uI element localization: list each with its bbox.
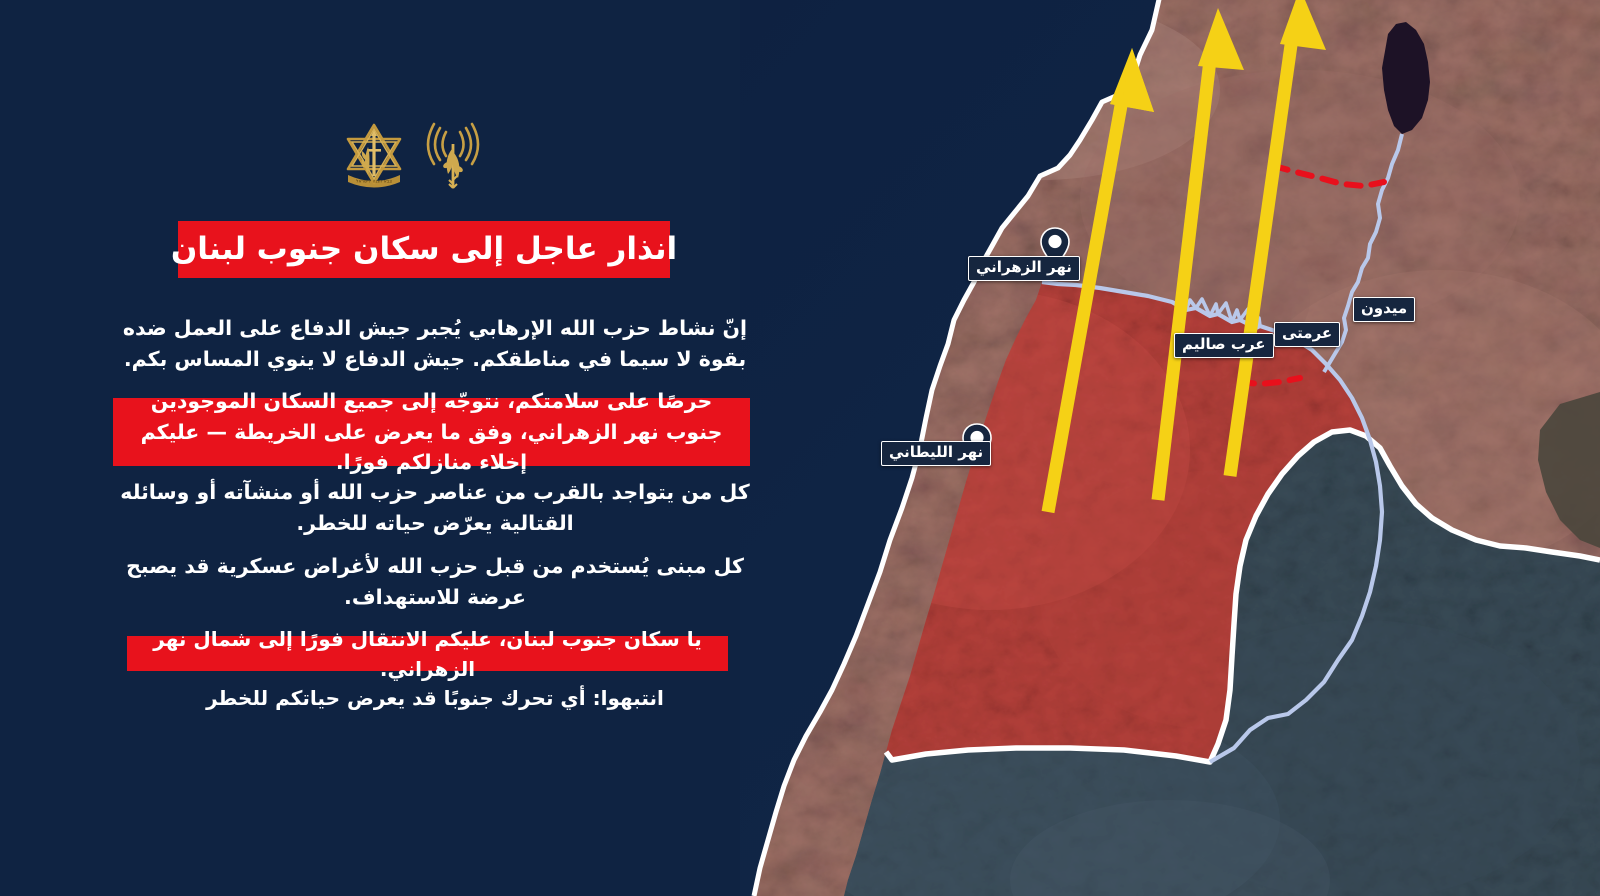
idf-insignia-icon: צבא הגנה לישראל (340, 119, 408, 191)
message-panel: צבא הגנה לישראל (0, 0, 760, 896)
headline-text: انذار عاجل إلى سكان جنوب لبنان (171, 234, 677, 265)
warning-graphic: نهر الزهراني نهر الليطاني عرب صاليم عرمت… (0, 0, 1600, 896)
paragraph-proximity-warning: كل من يتواجد بالقرب من عناصر حزب الله أو… (105, 477, 765, 539)
paragraph-intro: إنّ نشاط حزب الله الإرهابي يُجبر جيش الد… (105, 313, 765, 375)
litani-river-label[interactable]: نهر الليطاني (881, 441, 991, 466)
paragraph-move-north: يا سكان جنوب لبنان، عليكم الانتقال فورًا… (127, 636, 728, 671)
paragraph-attention: انتبهوا: أي تحرك جنوبًا قد يعرض حياتكم ل… (105, 683, 765, 713)
broadcast-icon (422, 118, 484, 192)
armata-label[interactable]: عرمتى (1274, 322, 1340, 347)
emblem-row: צבא הגנה לישראל (340, 112, 520, 198)
paragraph-building-warning: كل مبنى يُستخدم من قبل حزب الله لأغراض ع… (105, 551, 765, 613)
map-svg (740, 0, 1600, 896)
arab-salim-label[interactable]: عرب صاليم (1174, 333, 1274, 358)
svg-text:צבא הגנה לישראל: צבא הגנה לישראל (356, 179, 393, 185)
zahrani-river-label[interactable]: نهر الزهراني (968, 256, 1080, 281)
maydoun-label[interactable]: ميدون (1353, 297, 1415, 322)
headline-banner: انذار عاجل إلى سكان جنوب لبنان (178, 221, 670, 278)
map-panel: نهر الزهراني نهر الليطاني عرب صاليم عرمت… (740, 0, 1600, 896)
paragraph-evacuation-order: حرصًا على سلامتكم، نتوجّه إلى جميع السكا… (113, 398, 750, 466)
